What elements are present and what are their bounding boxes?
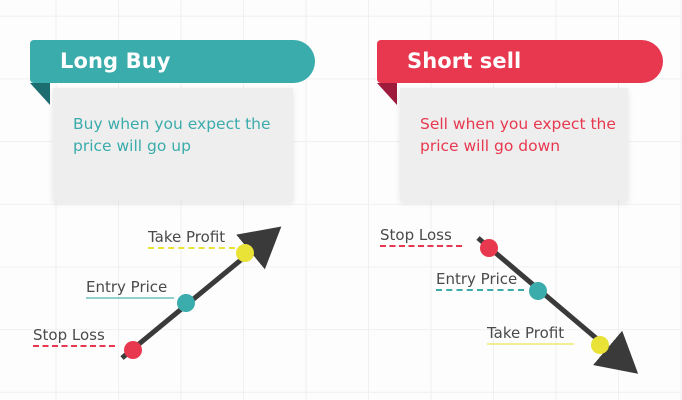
banner-short-sell: Short sell	[377, 40, 663, 83]
banner-title: Long Buy	[60, 51, 171, 72]
banner-long-buy: Long Buy	[30, 40, 315, 83]
description-text: Buy when you expect the price will go up	[73, 113, 283, 157]
label-underline	[33, 345, 115, 347]
point-entry-price	[177, 294, 195, 312]
banner-fold-icon	[377, 83, 397, 105]
label-entry-price: Entry Price	[436, 272, 524, 291]
label-underline	[86, 297, 174, 299]
label-stop-loss-text: Stop Loss	[380, 226, 452, 244]
label-take-profit: Take Profit	[487, 326, 574, 345]
panel-short-sell: Short sell Sell when you expect the pric…	[341, 0, 682, 400]
label-take-profit: Take Profit	[148, 230, 235, 249]
label-entry-price-text: Entry Price	[436, 270, 517, 288]
banner-title: Short sell	[407, 51, 521, 72]
label-take-profit-text: Take Profit	[487, 324, 564, 342]
banner-fold-icon	[30, 83, 50, 105]
label-stop-loss-text: Stop Loss	[33, 326, 105, 344]
label-stop-loss: Stop Loss	[380, 228, 462, 247]
point-stop-loss	[480, 239, 498, 257]
description-card-long-buy: Buy when you expect the price will go up	[53, 88, 293, 201]
label-take-profit-text: Take Profit	[148, 228, 225, 246]
label-underline	[148, 247, 235, 249]
label-stop-loss: Stop Loss	[33, 328, 115, 347]
label-entry-price: Entry Price	[86, 280, 174, 299]
point-take-profit	[591, 336, 609, 354]
description-text: Sell when you expect the price will go d…	[420, 113, 625, 157]
panel-long-buy: Long Buy Buy when you expect the price w…	[0, 0, 341, 400]
point-stop-loss	[124, 341, 142, 359]
point-take-profit	[236, 244, 254, 262]
label-underline	[436, 289, 524, 291]
point-entry-price	[529, 282, 547, 300]
chart-long-buy: Take Profit Entry Price Stop Loss	[0, 215, 341, 400]
label-entry-price-text: Entry Price	[86, 278, 167, 296]
infographic-canvas: Long Buy Buy when you expect the price w…	[0, 0, 682, 400]
label-underline	[487, 343, 574, 345]
description-card-short-sell: Sell when you expect the price will go d…	[400, 88, 628, 201]
chart-short-sell: Stop Loss Entry Price Take Profit	[341, 215, 682, 400]
label-underline	[380, 245, 462, 247]
